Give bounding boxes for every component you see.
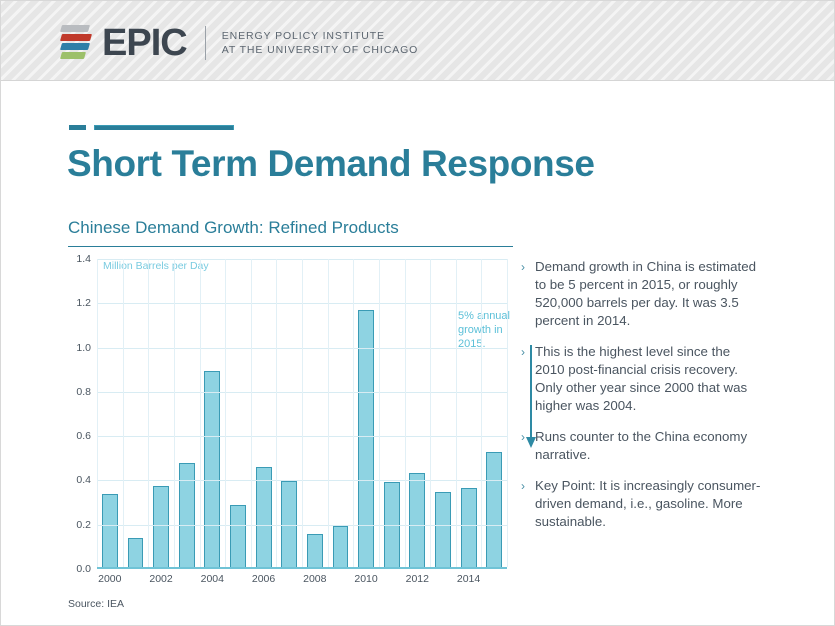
vertical-gridline bbox=[353, 259, 354, 567]
slide-header: EPIC ENERGY POLICY INSTITUTE AT THE UNIV… bbox=[1, 1, 835, 81]
bullet-list: ›Demand growth in China is estimated to … bbox=[521, 258, 761, 544]
bar-2001[interactable] bbox=[128, 538, 144, 567]
x-tick-label: 2012 bbox=[405, 573, 431, 591]
vertical-gridline bbox=[456, 259, 457, 567]
bar-slot bbox=[430, 259, 456, 567]
chart-annotation: 5% annual growth in 2015. bbox=[458, 309, 528, 351]
vertical-gridline bbox=[225, 259, 226, 567]
bar-2014[interactable] bbox=[461, 488, 477, 567]
x-tick-label bbox=[276, 573, 302, 591]
vertical-gridline bbox=[379, 259, 380, 567]
bullet-text: This is the highest level since the 2010… bbox=[535, 343, 761, 415]
vertical-gridline bbox=[97, 259, 98, 567]
x-tick-label bbox=[123, 573, 149, 591]
bar-2000[interactable] bbox=[102, 494, 118, 567]
bar-2008[interactable] bbox=[307, 534, 323, 567]
list-item: ›Runs counter to the China economy narra… bbox=[521, 428, 761, 464]
x-tick-label bbox=[379, 573, 405, 591]
bar-slot bbox=[174, 259, 200, 567]
bar-slot bbox=[97, 259, 123, 567]
chart-heading: Chinese Demand Growth: Refined Products bbox=[68, 218, 513, 247]
bar-2004[interactable] bbox=[204, 371, 220, 567]
y-tick-label: 1.4 bbox=[76, 253, 91, 265]
x-tick-label: 2006 bbox=[251, 573, 277, 591]
vertical-gridline bbox=[507, 259, 508, 567]
vertical-gridline bbox=[405, 259, 406, 567]
x-tick-label: 2010 bbox=[353, 573, 379, 591]
x-tick-label bbox=[481, 573, 507, 591]
page-title: Short Term Demand Response bbox=[67, 143, 595, 185]
bar-slot bbox=[276, 259, 302, 567]
y-tick-label: 1.2 bbox=[76, 297, 91, 309]
bar-slot bbox=[328, 259, 354, 567]
vertical-gridline bbox=[302, 259, 303, 567]
plot-area: Million Barrels per Day 5% annual growth… bbox=[97, 259, 507, 569]
epic-logo: EPIC ENERGY POLICY INSTITUTE AT THE UNIV… bbox=[59, 23, 418, 63]
y-tick-label: 0.2 bbox=[76, 519, 91, 531]
bar-slot bbox=[353, 259, 379, 567]
vertical-gridline bbox=[481, 259, 482, 567]
list-item: ›This is the highest level since the 201… bbox=[521, 343, 761, 415]
bar-2002[interactable] bbox=[153, 486, 169, 567]
bar-2005[interactable] bbox=[230, 505, 246, 567]
vertical-gridline bbox=[174, 259, 175, 567]
bar-slot bbox=[456, 259, 482, 567]
y-tick-label: 0.4 bbox=[76, 474, 91, 486]
list-item: ›Demand growth in China is estimated to … bbox=[521, 258, 761, 330]
x-tick-label: 2014 bbox=[456, 573, 482, 591]
bar-slot bbox=[251, 259, 277, 567]
logo-subtitle: ENERGY POLICY INSTITUTE AT THE UNIVERSIT… bbox=[222, 29, 419, 57]
vertical-gridline bbox=[430, 259, 431, 567]
y-axis-tick-labels: 1.41.21.00.80.60.40.20.0 bbox=[63, 259, 91, 569]
bar-slot bbox=[302, 259, 328, 567]
x-tick-label: 2000 bbox=[97, 573, 123, 591]
chevron-right-icon: › bbox=[521, 428, 535, 464]
bar-chart: 1.41.21.00.80.60.40.20.0 Million Barrels… bbox=[63, 259, 513, 579]
bar-slot bbox=[123, 259, 149, 567]
bar-2015[interactable] bbox=[486, 452, 502, 567]
vertical-gridline bbox=[251, 259, 252, 567]
bullet-text: Key Point: It is increasingly consumer-d… bbox=[535, 477, 761, 531]
vertical-gridline bbox=[123, 259, 124, 567]
vertical-gridline bbox=[328, 259, 329, 567]
bar-slot bbox=[379, 259, 405, 567]
chevron-right-icon: › bbox=[521, 343, 535, 415]
bar-slot bbox=[481, 259, 507, 567]
bar-2013[interactable] bbox=[435, 492, 451, 567]
bar-2003[interactable] bbox=[179, 463, 195, 567]
bar-slot bbox=[405, 259, 431, 567]
vertical-gridline bbox=[200, 259, 201, 567]
logo-subtitle-line1: ENERGY POLICY INSTITUTE bbox=[222, 29, 419, 43]
x-tick-label: 2004 bbox=[200, 573, 226, 591]
logo-divider bbox=[205, 26, 206, 60]
epic-stacked-stripes-logo-icon bbox=[59, 23, 93, 63]
bar-slot bbox=[200, 259, 226, 567]
bar-slot bbox=[225, 259, 251, 567]
bar-2012[interactable] bbox=[409, 473, 425, 567]
bar-2006[interactable] bbox=[256, 467, 272, 567]
x-tick-label bbox=[328, 573, 354, 591]
y-tick-label: 0.8 bbox=[76, 386, 91, 398]
x-tick-label bbox=[174, 573, 200, 591]
bullet-text: Demand growth in China is estimated to b… bbox=[535, 258, 761, 330]
bar-slot bbox=[148, 259, 174, 567]
source-note: Source: IEA bbox=[68, 598, 124, 610]
x-tick-label: 2002 bbox=[148, 573, 174, 591]
x-tick-label bbox=[225, 573, 251, 591]
x-tick-label: 2008 bbox=[302, 573, 328, 591]
logo-subtitle-line2: AT THE UNIVERSITY OF CHICAGO bbox=[222, 43, 419, 57]
bar-2009[interactable] bbox=[333, 526, 349, 567]
y-tick-label: 0.0 bbox=[76, 563, 91, 575]
slide: EPIC ENERGY POLICY INSTITUTE AT THE UNIV… bbox=[0, 0, 835, 626]
title-accent-rule bbox=[69, 125, 234, 130]
bullet-text: Runs counter to the China economy narrat… bbox=[535, 428, 761, 464]
y-tick-label: 1.0 bbox=[76, 342, 91, 354]
bar-2010[interactable] bbox=[358, 310, 374, 567]
list-item: ›Key Point: It is increasingly consumer-… bbox=[521, 477, 761, 531]
vertical-gridline bbox=[276, 259, 277, 567]
x-axis-tick-labels: 20002002200420062008201020122014 bbox=[97, 573, 507, 591]
chevron-right-icon: › bbox=[521, 477, 535, 531]
vertical-gridline bbox=[148, 259, 149, 567]
y-tick-label: 0.6 bbox=[76, 430, 91, 442]
logo-wordmark: EPIC bbox=[102, 23, 187, 63]
x-tick-label bbox=[430, 573, 456, 591]
chevron-right-icon: › bbox=[521, 258, 535, 330]
